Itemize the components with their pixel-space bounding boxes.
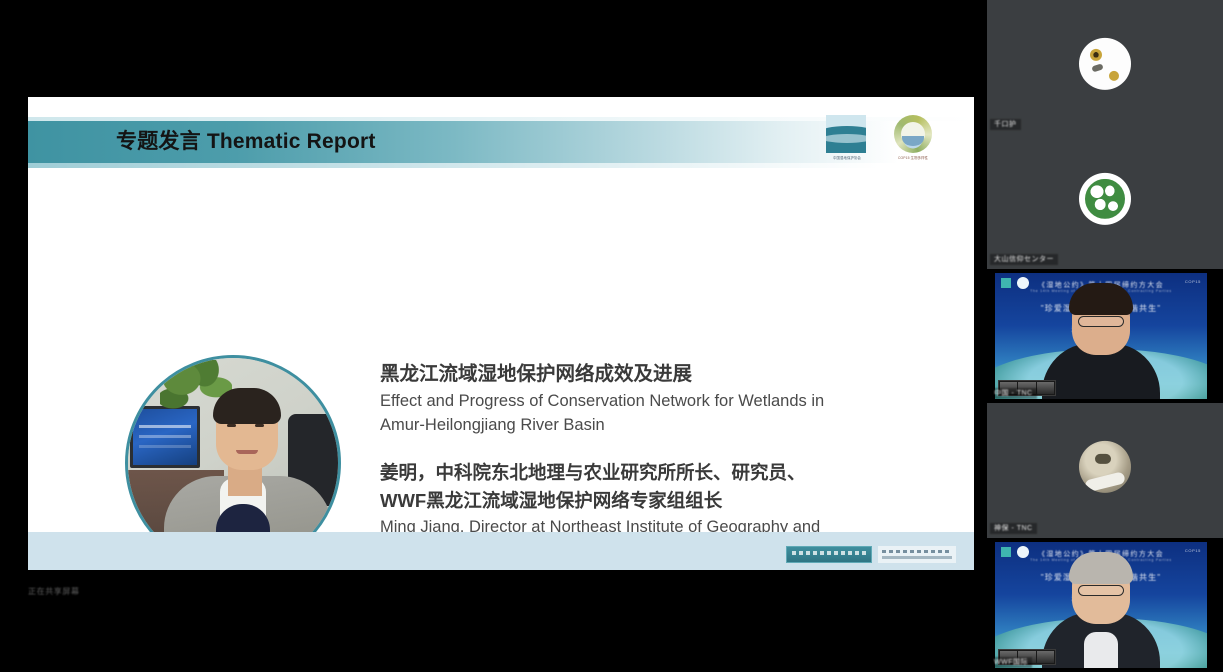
person-glasses-3 bbox=[1078, 316, 1124, 327]
backdrop-corner-text-3: COP15 bbox=[1185, 279, 1201, 284]
participant-tile-1[interactable]: 千口护 bbox=[987, 0, 1223, 134]
slide-footer-band bbox=[28, 532, 974, 570]
portrait-eye-left bbox=[227, 424, 236, 427]
cbd-cop15-globe-logo-icon bbox=[894, 115, 932, 153]
wwf-prefix: WWF bbox=[380, 490, 426, 511]
participant-tile-2[interactable]: 大山信仰センター bbox=[987, 134, 1223, 268]
portrait-eye-right bbox=[255, 424, 264, 427]
topic-title-en-line1: Effect and Progress of Conservation Netw… bbox=[380, 389, 950, 413]
slide-title: 专题发言 Thematic Report bbox=[116, 125, 376, 159]
person-hair-5 bbox=[1069, 552, 1133, 584]
topic-title-cn: 黑龙江流域湿地保护网络成效及进展 bbox=[380, 359, 950, 389]
participant-tile-4[interactable]: 神保 - TNC bbox=[987, 403, 1223, 537]
wetlands-china-logo: 中国湿地保护协会 bbox=[826, 115, 868, 161]
title-bar-glow-bottom bbox=[28, 163, 974, 168]
participant-name-5: WWF国际 bbox=[990, 657, 1032, 668]
green-globe-avatar-icon bbox=[1079, 172, 1131, 224]
backdrop-corner-logo-5 bbox=[1001, 547, 1011, 557]
backdrop-corner-dot-3 bbox=[1017, 277, 1029, 289]
text-spacer bbox=[380, 437, 950, 459]
screen-share-caption: 正在共享屏幕 bbox=[28, 586, 80, 597]
cbd-cop15-globe-logo: COP15 生物多样性 bbox=[892, 115, 934, 161]
footer-banner-dark bbox=[786, 546, 872, 563]
slide-logos: 中国湿地保护协会 COP15 生物多样性 bbox=[826, 115, 934, 161]
footer-banner-light bbox=[878, 546, 956, 563]
speaker-name-cn-line2: WWF黑龙江流域湿地保护网络专家组组长 bbox=[380, 487, 950, 515]
topic-title-en-line2: Amur-Heilongjiang River Basin bbox=[380, 413, 950, 437]
speaker-name-cn-line2-text: 黑龙江流域湿地保护网络专家组组长 bbox=[426, 490, 722, 511]
wetlands-china-logo-icon bbox=[826, 115, 866, 153]
cbd-cop15-globe-logo-caption: COP15 生物多样性 bbox=[892, 156, 934, 161]
backdrop-corner-logo-3 bbox=[1001, 278, 1011, 288]
presentation-slide: 专题发言 Thematic Report 中国湿地保护协会 COP15 生物多样… bbox=[28, 97, 974, 570]
participant-name-2: 大山信仰センター bbox=[990, 254, 1058, 265]
backdrop-corner-text-5: COP15 bbox=[1185, 548, 1201, 553]
photo-avatar-icon bbox=[1079, 441, 1131, 493]
portrait-hair bbox=[213, 388, 281, 424]
participant-video-5: COP15 《湿地公约》第十四届缔约方大会 The 14th Meeting o… bbox=[995, 542, 1207, 668]
participant-video-3: COP15 《湿地公约》第十四届缔约方大会 The 14th Meeting o… bbox=[995, 273, 1207, 399]
slide-footer-banner bbox=[786, 545, 956, 564]
wetlands-china-logo-caption: 中国湿地保护协会 bbox=[826, 156, 868, 161]
speaker-name-cn-line1: 姜明，中科院东北地理与农业研究所所长、研究员、 bbox=[380, 459, 950, 487]
participant-filmstrip[interactable]: 千口护 大山信仰センター COP15 《湿地公约》第十四届缔约方大会 The 1… bbox=[987, 0, 1223, 672]
portrait-mouth bbox=[236, 450, 258, 454]
person-shirt-5 bbox=[1084, 632, 1118, 668]
owl-avatar-icon bbox=[1079, 38, 1131, 90]
participant-name-4: 神保 - TNC bbox=[990, 523, 1037, 534]
participant-name-3: 中国 - TNC bbox=[990, 388, 1037, 399]
slide-title-cn: 专题发言 bbox=[116, 130, 201, 153]
participant-name-1: 千口护 bbox=[990, 119, 1021, 130]
backdrop-corner-dot-5 bbox=[1017, 546, 1029, 558]
slide-title-en: Thematic Report bbox=[207, 130, 376, 153]
participant-tile-5[interactable]: COP15 《湿地公约》第十四届缔约方大会 The 14th Meeting o… bbox=[987, 538, 1223, 672]
participant-tile-3[interactable]: COP15 《湿地公约》第十四届缔约方大会 The 14th Meeting o… bbox=[987, 269, 1223, 403]
screen-share-region: 专题发言 Thematic Report 中国湿地保护协会 COP15 生物多样… bbox=[0, 0, 980, 672]
person-hair-3 bbox=[1069, 283, 1133, 315]
person-glasses-5 bbox=[1078, 585, 1124, 596]
